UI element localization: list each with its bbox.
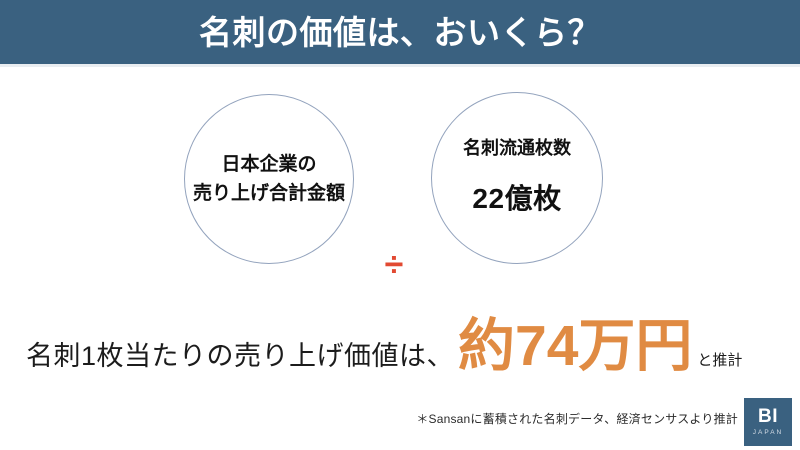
logo-main-text: BI xyxy=(758,407,778,426)
page-title: 名刺の価値は、おいくら？ xyxy=(199,16,601,49)
conclusion-line: 名刺1枚当たりの売り上げ価値は、 約74万円 と推計 xyxy=(0,318,800,394)
circle-total-sales-line2: 売り上げ合計金額 xyxy=(193,179,345,208)
circle-card-volume-caption: 名刺流通枚数 xyxy=(463,135,571,163)
circle-total-sales-line1: 日本企業の xyxy=(221,150,316,179)
formula-row: 日本企業の 売り上げ合計金額 ÷ 名刺流通枚数 22億枚 xyxy=(0,88,800,268)
circle-total-sales: 日本企業の 売り上げ合計金額 xyxy=(184,94,354,264)
source-footnote: ＊Sansanに蓄積された名刺データ、経済センサスより推計 xyxy=(416,410,738,427)
conclusion-suffix-text: と推計 xyxy=(697,349,742,370)
slide-header: 名刺の価値は、おいくら？ xyxy=(0,0,800,64)
logo-badge: BI JAPAN xyxy=(744,398,792,446)
conclusion-lead-text: 名刺1枚当たりの売り上げ価値は、 xyxy=(26,334,454,373)
logo-sub-text: JAPAN xyxy=(753,430,783,437)
slide-root: 名刺の価値は、おいくら？ 日本企業の 売り上げ合計金額 ÷ 名刺流通枚数 22億… xyxy=(0,0,800,450)
header-underline xyxy=(0,64,800,67)
circle-card-volume: 名刺流通枚数 22億枚 xyxy=(431,92,603,264)
conclusion-highlight-value: 約74万円 xyxy=(458,318,692,375)
circle-card-volume-value: 22億枚 xyxy=(472,177,561,220)
division-operator-icon: ÷ xyxy=(379,250,409,280)
